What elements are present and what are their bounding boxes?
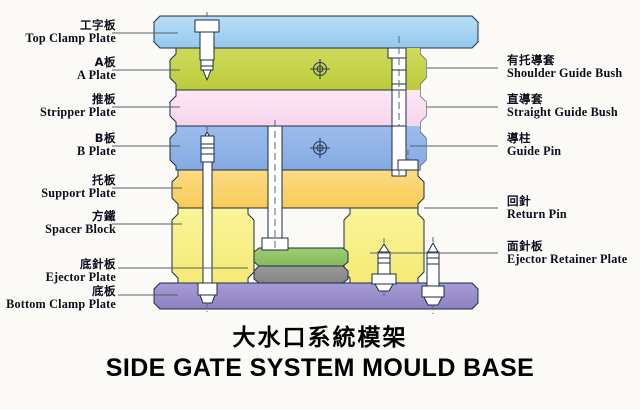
shoulder-guide-bush-collar [388,48,406,58]
callout-label-en: Top Clamp Plate [0,32,116,45]
callout-label-en: Guide Pin [507,145,561,158]
callout-top-clamp-plate: 工字板Top Clamp Plate [0,20,116,45]
cap-screw-b-plate [201,136,214,144]
callout-guide-pin: 導柱Guide Pin [507,133,561,158]
callout-ejector-retainer-plate: 面針板Ejector Retainer Plate [507,241,627,266]
callout-label-en: A Plate [0,69,116,82]
callout-return-pin: 回針Return Pin [507,196,567,221]
ejector-retainer-plate [254,248,348,266]
spacer-block [172,208,254,283]
callout-ejector-plate: 底針板Ejector Plate [0,259,116,284]
callout-label-en: Shoulder Guide Bush [507,67,622,80]
page-title: 大水口系統模架 SIDE GATE SYSTEM MOULD BASE [0,318,640,383]
callout-label-en: Spacer Block [0,223,116,236]
callout-label-en: B Plate [0,145,116,158]
callout-label-en: Bottom Clamp Plate [0,298,116,311]
straight-guide-bush [406,90,426,126]
callout-label-en: Stripper Plate [0,106,116,119]
title-english: SIDE GATE SYSTEM MOULD BASE [0,354,640,383]
stripper-plate [170,90,426,126]
callout-label-en: Ejector Plate [0,271,116,284]
ejector-plate [254,266,348,283]
callout-label-en: Return Pin [507,208,567,221]
callout-spacer-block: 方鐵Spacer Block [0,211,116,236]
callout-label-en: Support Plate [0,187,116,200]
callout-label-en: Straight Guide Bush [507,106,618,119]
mould-base-diagram: 工字板Top Clamp PlateA板A Plate推板Stripper Pl… [0,0,640,410]
callout-a-plate: A板A Plate [0,57,116,82]
callout-bottom-clamp-plate: 底板Bottom Clamp Plate [0,286,116,311]
callout-stripper-plate: 推板Stripper Plate [0,94,116,119]
callout-support-plate: 托板Support Plate [0,175,116,200]
shoulder-guide-bush [406,48,426,90]
callout-shoulder-guide-bush: 有托導套Shoulder Guide Bush [507,55,622,80]
title-chinese: 大水口系統模架 [0,318,640,352]
callout-label-en: Ejector Retainer Plate [507,253,627,266]
callout-b-plate: B板B Plate [0,133,116,158]
callout-straight-guide-bush: 直導套Straight Guide Bush [507,94,618,119]
